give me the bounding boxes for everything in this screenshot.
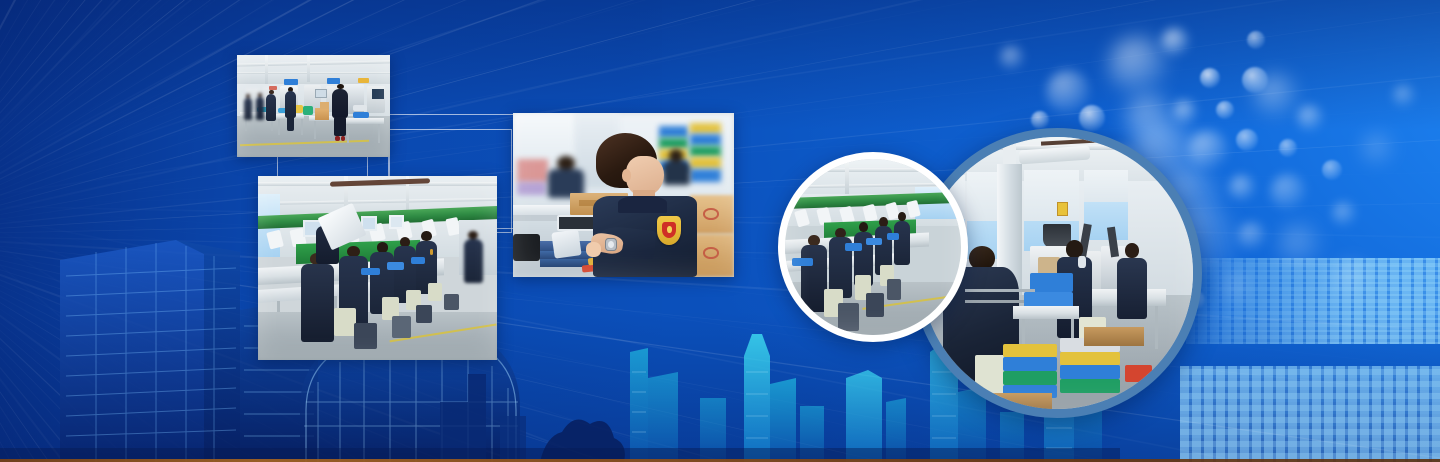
photo-assembly-hall	[237, 55, 390, 157]
bokeh-dot	[1188, 130, 1228, 170]
bokeh-dot	[1161, 28, 1189, 56]
bokeh-dot	[1236, 129, 1258, 151]
bokeh-dot	[1254, 74, 1298, 118]
bokeh-dot	[1270, 174, 1306, 210]
bokeh-dot	[1332, 202, 1356, 226]
bokeh-dot	[1247, 31, 1265, 49]
bokeh-dot	[1238, 222, 1266, 250]
bokeh-dot	[1108, 36, 1168, 96]
bokeh-dot	[1200, 68, 1220, 88]
bokeh-dot	[1297, 105, 1323, 131]
photo-circle-workbench	[778, 152, 968, 342]
grid-block-upper	[1186, 258, 1440, 344]
bokeh-dot	[1173, 100, 1197, 124]
bokeh-dot	[1393, 85, 1415, 107]
photo-worker-closeup	[513, 113, 734, 277]
banner-root	[0, 0, 1440, 462]
bokeh-dot	[1279, 139, 1297, 157]
bokeh-dot	[1079, 105, 1105, 131]
bokeh-dot	[1216, 101, 1234, 119]
bokeh-dot	[1362, 134, 1394, 166]
grid-block-lower	[1180, 366, 1440, 462]
bokeh-dot	[1229, 175, 1255, 201]
photo-production-line	[258, 176, 497, 360]
bokeh-dot	[1000, 46, 1024, 70]
bokeh-dot	[1322, 160, 1342, 180]
bokeh-dot	[1031, 111, 1049, 129]
